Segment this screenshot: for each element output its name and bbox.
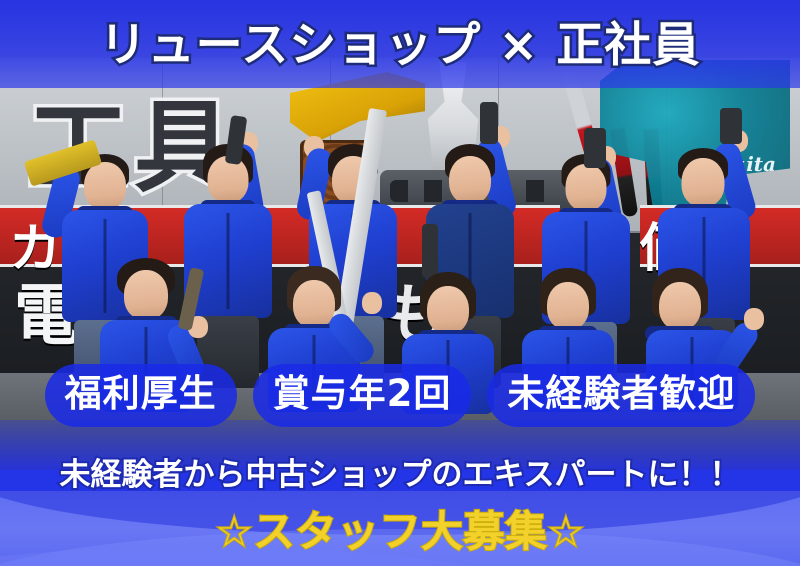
status-badge: 賞与年2回 xyxy=(253,364,472,427)
status-badge: 未経験者歓迎 xyxy=(487,364,755,427)
benefit-badges: 福利厚生 賞与年2回 未経験者歓迎 xyxy=(0,364,800,426)
page-title: リュースショップ × 正社員 xyxy=(0,6,800,75)
status-badge: 福利厚生 xyxy=(45,364,237,427)
callout-band: ☆スタッフ大募集☆ xyxy=(0,491,800,566)
callout-text: ☆スタッフ大募集☆ xyxy=(0,491,800,566)
tagline-text: 未経験者から中古ショップのエキスパートに！！ xyxy=(59,449,740,494)
tagline-band: 未経験者から中古ショップのエキスパートに！！ xyxy=(0,447,800,495)
recruitment-banner: 工具 ガ 価 電 も xyxy=(0,0,800,566)
